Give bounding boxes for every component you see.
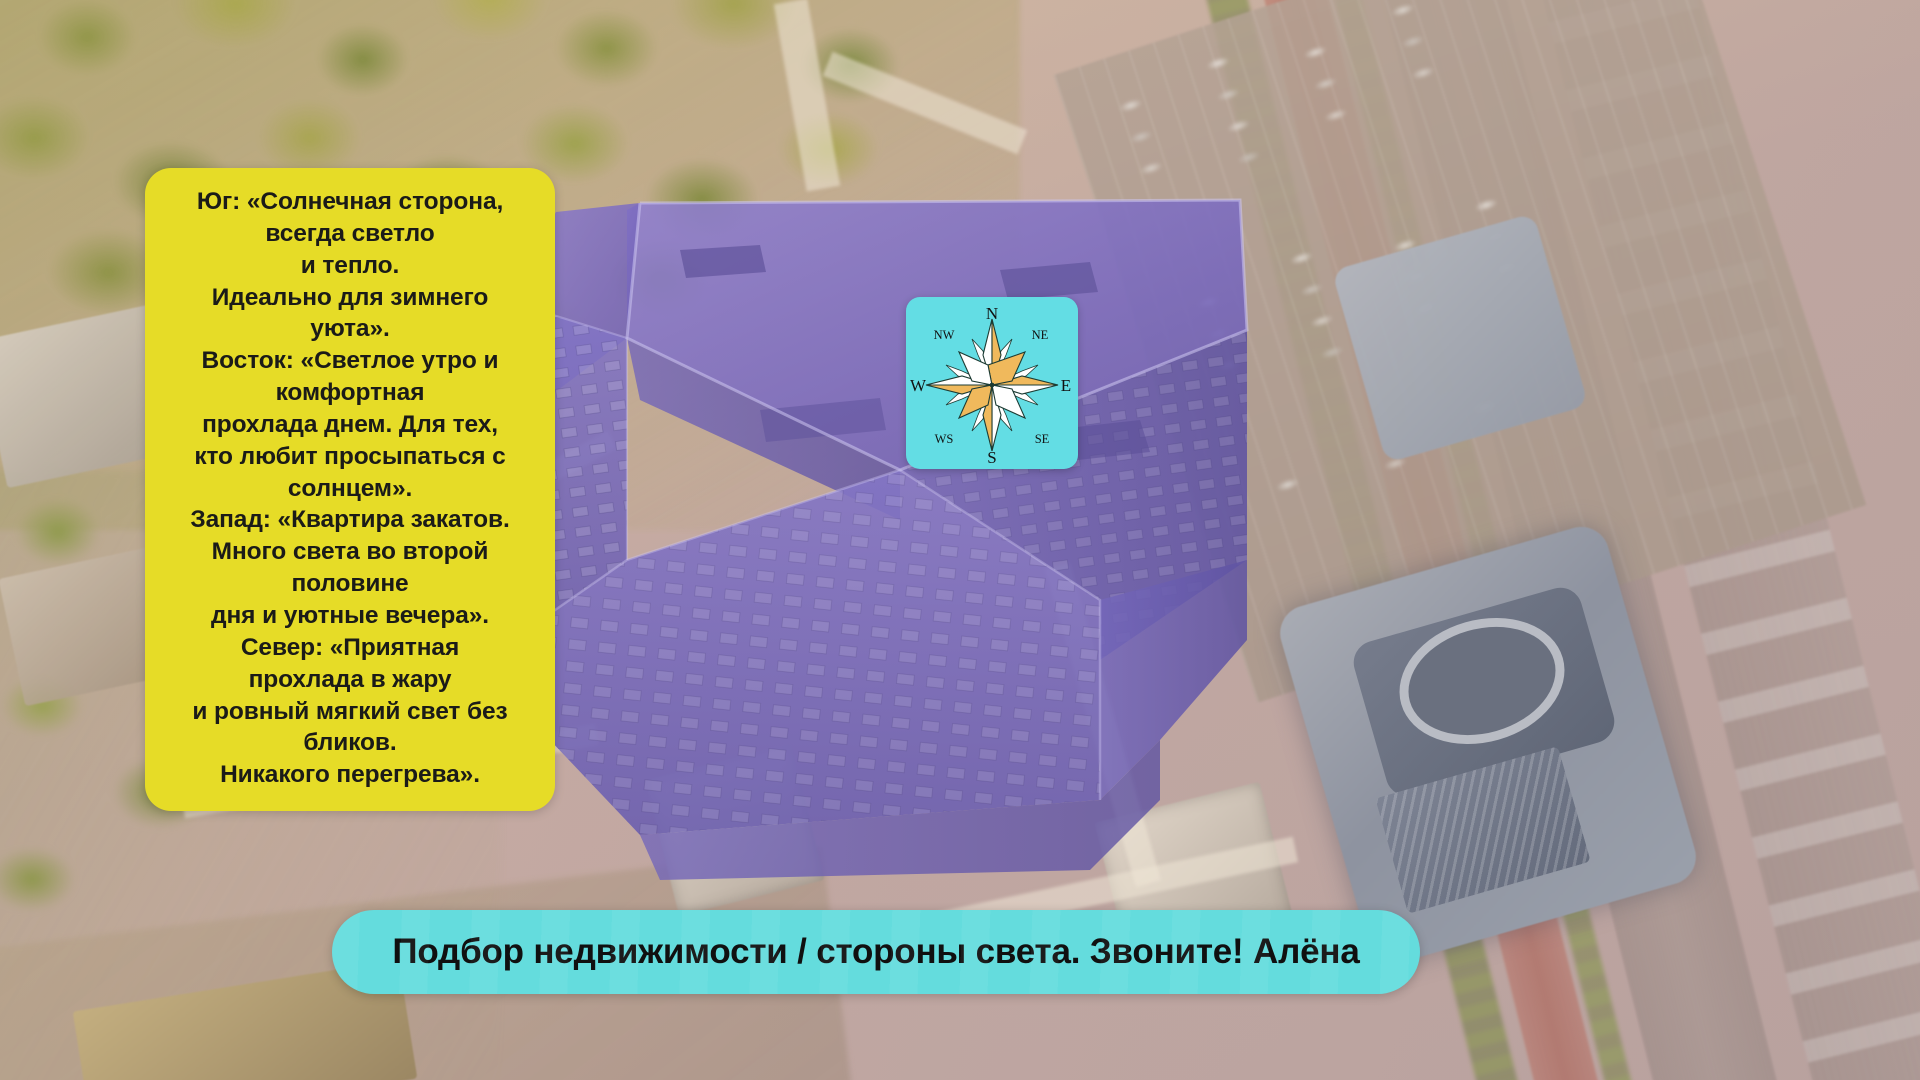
compass-label-north: N bbox=[986, 304, 998, 323]
info-line: Много света во второй bbox=[159, 536, 541, 568]
compass-label-southeast: SE bbox=[1035, 432, 1050, 446]
info-line: дня и уютные вечера». bbox=[159, 600, 541, 632]
info-line: прохлада в жару bbox=[159, 664, 541, 696]
info-line: и ровный мягкий свет без bbox=[159, 696, 541, 728]
info-line: Север: «Приятная bbox=[159, 632, 541, 664]
compass-label-west: W bbox=[910, 376, 927, 395]
compass-label-northeast: NE bbox=[1032, 328, 1049, 342]
compass-rose-card: N NE E SE S WS W NW bbox=[906, 297, 1078, 469]
info-line: уюта». bbox=[159, 313, 541, 345]
info-line: солнцем». bbox=[159, 473, 541, 505]
info-line: половине bbox=[159, 568, 541, 600]
poster-canvas: Юг: «Солнечная сторона, всегда светло и … bbox=[0, 0, 1920, 1080]
info-line: Восток: «Светлое утро и bbox=[159, 345, 541, 377]
info-line: комфортная bbox=[159, 377, 541, 409]
compass-label-east: E bbox=[1061, 376, 1071, 395]
compass-label-south: S bbox=[987, 448, 996, 467]
info-line: Запад: «Квартира закатов. bbox=[159, 504, 541, 536]
compass-label-southwest: WS bbox=[935, 432, 954, 446]
info-line: и тепло. bbox=[159, 250, 541, 282]
cta-text: Подбор недвижимости / стороны света. Зво… bbox=[392, 932, 1359, 972]
info-line: всегда светло bbox=[159, 218, 541, 250]
info-line: бликов. bbox=[159, 727, 541, 759]
compass-label-northwest: NW bbox=[934, 328, 955, 342]
info-line: Никакого перегрева». bbox=[159, 759, 541, 791]
info-line: прохлада днем. Для тех, bbox=[159, 409, 541, 441]
compass-rose-icon: N NE E SE S WS W NW bbox=[906, 297, 1078, 469]
cta-banner[interactable]: Подбор недвижимости / стороны света. Зво… bbox=[332, 910, 1420, 994]
orientation-info-card: Юг: «Солнечная сторона, всегда светло и … bbox=[145, 168, 555, 811]
info-line: Идеально для зимнего bbox=[159, 282, 541, 314]
info-line: кто любит просыпаться с bbox=[159, 441, 541, 473]
info-line: Юг: «Солнечная сторона, bbox=[159, 186, 541, 218]
